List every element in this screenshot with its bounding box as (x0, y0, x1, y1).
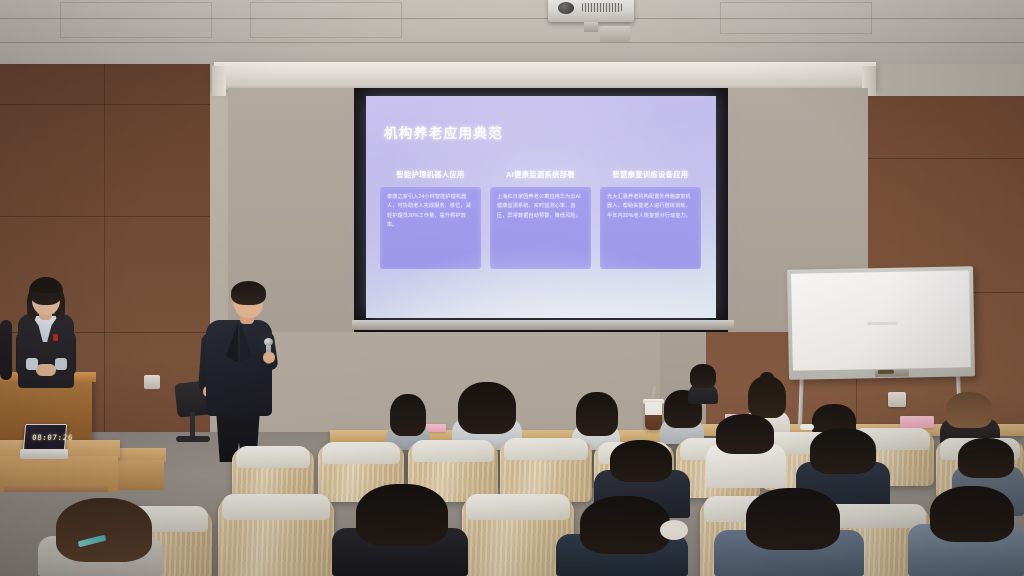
smart-display-base (20, 449, 68, 459)
audience-hair (580, 496, 670, 554)
projector-vent (582, 3, 622, 12)
audience-hair (356, 484, 448, 546)
smart-display-screen[interactable]: 08:07:26 (23, 424, 67, 452)
host-cuff-right (55, 358, 67, 370)
audience-hair (958, 438, 1014, 478)
audience-hair (56, 498, 152, 562)
ceiling-tile (250, 2, 402, 38)
lecture-hall-photo: 机构养老应用典范 智能护理机器人应用 泰康之家引入24小时智能护理机器人，可协助… (0, 0, 1024, 576)
audience-hair (930, 486, 1014, 542)
projected-slide: 机构养老应用典范 智能护理机器人应用 泰康之家引入24小时智能护理机器人，可协助… (366, 96, 716, 318)
projector (548, 0, 634, 22)
audience-hair (576, 392, 618, 436)
projector-mount (584, 22, 598, 32)
projector-lens-icon (558, 2, 574, 14)
host-hands (36, 364, 56, 376)
audience-hair (716, 414, 774, 454)
slide-card-text: 泰康之家引入24小时智能护理机器人，可协助老人完成服务、移位，减轻护理员30%工… (387, 193, 474, 231)
pink-handout[interactable] (900, 416, 934, 428)
slide-card-text: 上海红日家园养老公寓应用华为云AI健康监测系统，实时监测心率、血压，异常数据自动… (497, 193, 584, 221)
front-table-shelf (4, 484, 108, 492)
whiteboard-marker (878, 370, 894, 374)
host-hair-fringe (31, 281, 61, 293)
audience-hair (810, 428, 876, 474)
host-side-shadow (0, 320, 12, 380)
valance-end-left (212, 66, 226, 96)
whiteboard-smudge (867, 322, 897, 326)
presenter-right-hand (263, 352, 275, 363)
audience-hair (390, 394, 426, 436)
slide-card-heading: 智慧康复训练设备应用 (600, 170, 701, 181)
audience-hair (946, 392, 992, 428)
audience-hair (746, 488, 840, 550)
slide-card-heading: AI健康监测系统部署 (490, 170, 591, 181)
ceiling-fixture (600, 26, 630, 42)
ceiling-tile (60, 2, 212, 38)
screen-bottom-bar (352, 320, 734, 330)
wall-outlet (888, 392, 906, 407)
slide-light-sheen (366, 243, 716, 318)
lecture-seat-pad (322, 442, 400, 464)
ceiling-seam (0, 42, 1024, 43)
slide-card-heading: 智能护理机器人应用 (380, 170, 481, 181)
lecture-seat-pad (222, 494, 330, 520)
lecture-seat-pad (236, 446, 310, 468)
audience-hair (458, 382, 516, 434)
host-lapel-badge (53, 334, 58, 341)
slide-card-text: 光大汇晨养老机构配置外骨骼康复机器人，帮助失能老人进行肢体训练，半年内30%老人… (607, 193, 694, 221)
whiteboard (787, 266, 975, 380)
audience-hair (610, 440, 672, 482)
microphone-head-icon (264, 338, 273, 346)
office-chair-base (176, 436, 210, 442)
audience-hair (690, 364, 716, 388)
wall-outlet (144, 375, 160, 389)
whiteboard-surface (791, 270, 971, 370)
iced-coffee-cup[interactable] (645, 402, 662, 430)
lecture-seat-pad (504, 438, 588, 460)
lecture-seat-pad (412, 440, 494, 462)
ceiling-tile (720, 2, 872, 34)
smart-display-clock: 08:07:26 (32, 433, 74, 442)
eyeglasses-icon (800, 424, 814, 430)
slide-title: 机构养老应用典范 (384, 122, 503, 142)
presenter-hair (231, 281, 266, 305)
smart-display[interactable]: 08:07:26 (20, 424, 66, 458)
audience-ponytail (760, 372, 774, 384)
hair-scrunchie (660, 520, 688, 540)
lecture-seat-pad (466, 494, 570, 520)
